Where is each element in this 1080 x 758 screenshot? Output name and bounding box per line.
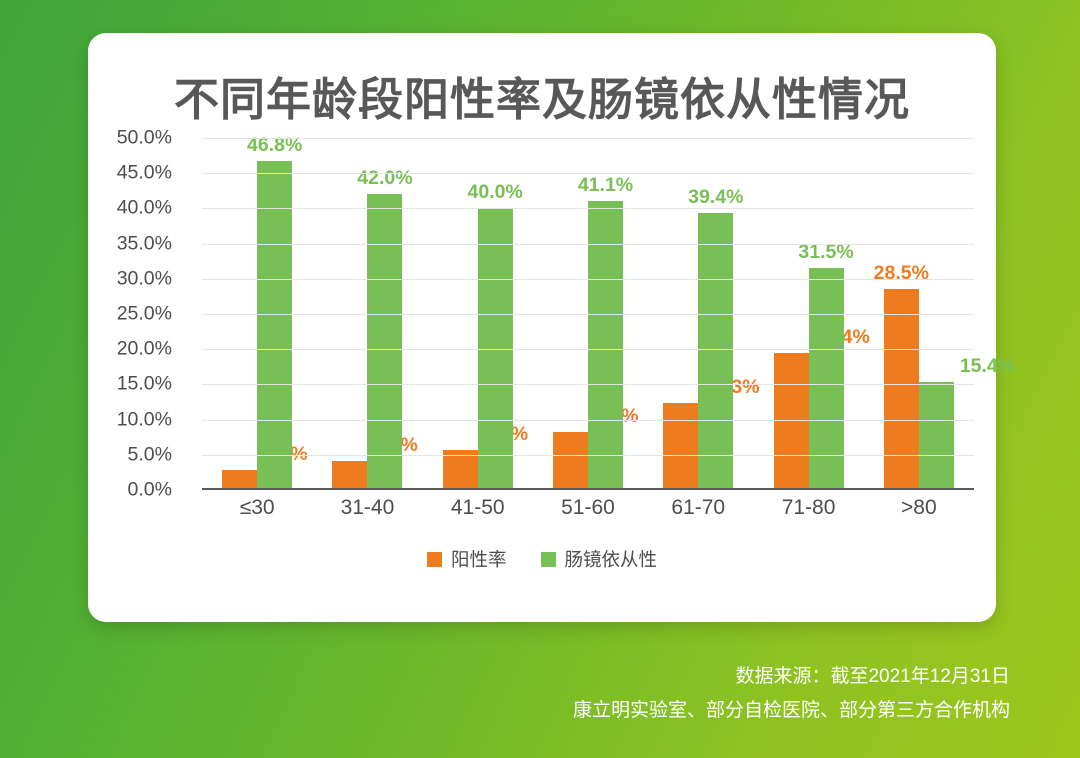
x-axis-tick-label: 51-60 xyxy=(533,496,643,520)
gridline xyxy=(202,349,974,350)
x-axis-tick-label: 41-50 xyxy=(423,496,533,520)
gridline xyxy=(202,420,974,421)
bar-colonoscopy-compliance[interactable]: 31.5% xyxy=(809,268,844,490)
gridline xyxy=(202,314,974,315)
bar-value-label: 39.4% xyxy=(688,186,743,209)
bar-colonoscopy-compliance[interactable]: 39.4% xyxy=(698,213,733,490)
legend-swatch-positive-rate xyxy=(427,552,442,567)
bar-positive-rate[interactable]: 19.4% xyxy=(774,353,809,490)
footnote-line-1: 数据来源：截至2021年12月31日 xyxy=(0,660,1010,694)
legend-item[interactable]: 肠镜依从性 xyxy=(541,546,658,572)
x-axis-tick-label: 71-80 xyxy=(753,496,863,520)
x-axis-tick-label: 61-70 xyxy=(643,496,753,520)
legend-item[interactable]: 阳性率 xyxy=(427,546,507,572)
y-axis-tick-label: 50.0% xyxy=(117,127,172,150)
x-axis-tick-label: 31-40 xyxy=(312,496,422,520)
y-axis: 50.0%45.0%40.0%35.0%30.0%25.0%20.0%15.0%… xyxy=(110,138,182,490)
data-source-footnote: 数据来源：截至2021年12月31日 康立明实验室、部分自检医院、部分第三方合作… xyxy=(0,660,1010,728)
y-axis-tick-label: 30.0% xyxy=(117,267,172,290)
y-axis-tick-label: 35.0% xyxy=(117,232,172,255)
x-axis: ≤3031-4041-5051-6061-7071-80>80 xyxy=(202,496,974,520)
y-axis-tick-label: 15.0% xyxy=(117,373,172,396)
gridline xyxy=(202,244,974,245)
bar-value-label: 46.8% xyxy=(247,134,302,157)
y-axis-tick-label: 10.0% xyxy=(117,408,172,431)
bar-positive-rate[interactable]: 5.7% xyxy=(443,450,478,490)
bar-colonoscopy-compliance[interactable]: 42.0% xyxy=(367,194,402,490)
page-title: 不同年龄段阳性率及肠镜依从性情况 xyxy=(88,63,996,128)
slide-canvas: 不同年龄段阳性率及肠镜依从性情况 50.0%45.0%40.0%35.0%30.… xyxy=(0,0,1080,758)
bar-value-label: 31.5% xyxy=(798,241,853,264)
legend-swatch-colonoscopy-compliance xyxy=(541,552,556,567)
bar-value-label: 40.0% xyxy=(468,181,523,204)
gridline xyxy=(202,455,974,456)
bar-value-label: 41.1% xyxy=(578,174,633,197)
gridline xyxy=(202,173,974,174)
gridline xyxy=(202,279,974,280)
y-axis-tick-label: 45.0% xyxy=(117,162,172,185)
y-axis-tick-label: 0.0% xyxy=(128,479,172,502)
y-axis-tick-label: 5.0% xyxy=(128,443,172,466)
footnote-line-2: 康立明实验室、部分自检医院、部分第三方合作机构 xyxy=(0,694,1010,728)
bar-value-label: 28.5% xyxy=(874,262,929,285)
x-axis-line xyxy=(202,488,974,490)
gridline xyxy=(202,384,974,385)
x-axis-tick-label: >80 xyxy=(864,496,974,520)
x-axis-tick-label: ≤30 xyxy=(202,496,312,520)
gridline xyxy=(202,138,974,139)
y-axis-tick-label: 25.0% xyxy=(117,303,172,326)
bar-positive-rate[interactable]: 4.1% xyxy=(332,461,367,490)
legend-item-label: 肠镜依从性 xyxy=(565,546,658,572)
bar-positive-rate[interactable]: 12.3% xyxy=(663,403,698,490)
bar-value-label: 15.4% xyxy=(960,355,1015,378)
chart-card: 不同年龄段阳性率及肠镜依从性情况 50.0%45.0%40.0%35.0%30.… xyxy=(88,33,996,622)
plot-area: 2.8%46.8%4.1%42.0%5.7%40.0%8.3%41.1%12.3… xyxy=(202,138,974,490)
chart-legend: 阳性率肠镜依从性 xyxy=(110,546,974,572)
y-axis-tick-label: 20.0% xyxy=(117,338,172,361)
bar-colonoscopy-compliance[interactable]: 46.8% xyxy=(257,161,292,490)
legend-item-label: 阳性率 xyxy=(451,546,507,572)
bar-positive-rate[interactable]: 8.3% xyxy=(553,432,588,490)
gridline xyxy=(202,208,974,209)
bar-colonoscopy-compliance[interactable]: 15.4% xyxy=(919,382,954,490)
bar-value-label: 42.0% xyxy=(357,167,412,190)
y-axis-tick-label: 40.0% xyxy=(117,197,172,220)
bar-positive-rate[interactable]: 28.5% xyxy=(884,289,919,490)
chart-area: 50.0%45.0%40.0%35.0%30.0%25.0%20.0%15.0%… xyxy=(110,138,974,563)
